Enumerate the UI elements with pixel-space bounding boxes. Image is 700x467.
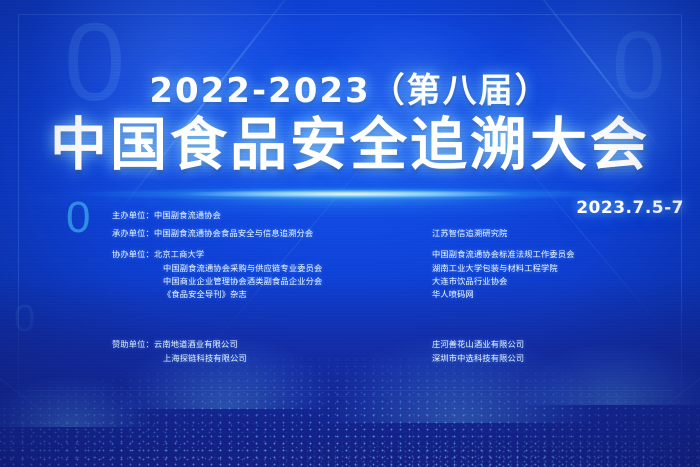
credit-value-host: 中国副食流通协会 [154, 211, 221, 220]
title-glow-streak [70, 186, 630, 202]
poster-year-line: 2022-2023（第八届） [0, 74, 700, 110]
credit-value-coorganizer-2: 中国副食流通协会采购与供应链专业委员会 [112, 262, 322, 275]
poster-main-title: 中国食品安全追溯大会 [0, 116, 700, 175]
credit-value-sponsor-1: 云南地道酒业有限公司 [154, 340, 238, 349]
credit-row-coorganizer-4: 《食品安全导刊》杂志 华人喷码网 [112, 288, 692, 301]
credit-row-coorganizer-3: 中国商业企业管理协会酒类副食品企业分会 大连市饮品行业协会 [112, 275, 692, 288]
credit-value-sponsor-right-1: 庄河善花山酒业有限公司 [432, 338, 692, 352]
credit-value-coorganizer-right-2: 湖南工业大学包装与材料工程学院 [432, 262, 692, 275]
credit-value-sponsor-right-2: 深圳市中选科技有限公司 [432, 352, 692, 366]
credit-label-organizer: 承办单位： [112, 227, 154, 240]
credit-value-sponsor-2: 上海探链科技有限公司 [112, 352, 247, 366]
credit-label-host: 主办单位： [112, 209, 154, 222]
credit-row-sponsor-1: 赞助单位：云南地道酒业有限公司 庄河善花山酒业有限公司 [112, 338, 692, 352]
credit-label-sponsor: 赞助单位： [112, 338, 154, 352]
credit-value-coorganizer-4: 《食品安全导刊》杂志 [112, 288, 247, 301]
credit-value-coorganizer-right-4: 华人喷码网 [432, 288, 692, 301]
credit-row-coorganizer-2: 中国副食流通协会采购与供应链专业委员会 湖南工业大学包装与材料工程学院 [112, 262, 692, 275]
credit-row-sponsor-2: 上海探链科技有限公司 深圳市中选科技有限公司 [112, 352, 692, 366]
credit-value-organizer: 中国副食流通协会食品安全与信息追溯分会 [154, 229, 313, 238]
title-block: 2022-2023（第八届） 中国食品安全追溯大会 [0, 74, 700, 175]
credit-row-organizer: 承办单位：中国副食流通协会食品安全与信息追溯分会 江苏智信追溯研究院 [112, 227, 692, 240]
credit-value-organizer-right: 江苏智信追溯研究院 [432, 227, 692, 240]
poster-content: 2022-2023（第八届） 中国食品安全追溯大会 2023.7.5-7 主办单… [0, 0, 700, 467]
credit-label-coorganizer: 协办单位： [112, 248, 154, 261]
credit-value-coorganizer-right-1: 中国副食流通协会标准法规工作委员会 [432, 248, 692, 261]
credit-value-coorganizer-right-3: 大连市饮品行业协会 [432, 275, 692, 288]
conference-backdrop-poster: 0 0 0 0 2022-2023（第八届） 中国食品安全追溯大会 2023.7… [0, 0, 700, 467]
credit-value-coorganizer-3: 中国商业企业管理协会酒类副食品企业分会 [112, 275, 322, 288]
sponsors-block: 赞助单位：云南地道酒业有限公司 庄河善花山酒业有限公司 上海探链科技有限公司 深… [112, 338, 692, 366]
credit-row-host: 主办单位：中国副食流通协会 [112, 209, 692, 222]
credits-block: 主办单位：中国副食流通协会 承办单位：中国副食流通协会食品安全与信息追溯分会 江… [112, 209, 692, 301]
credit-row-coorganizer-1: 协办单位：北京工商大学 中国副食流通协会标准法规工作委员会 [112, 248, 692, 261]
credit-value-coorganizer-1: 北京工商大学 [154, 250, 204, 259]
